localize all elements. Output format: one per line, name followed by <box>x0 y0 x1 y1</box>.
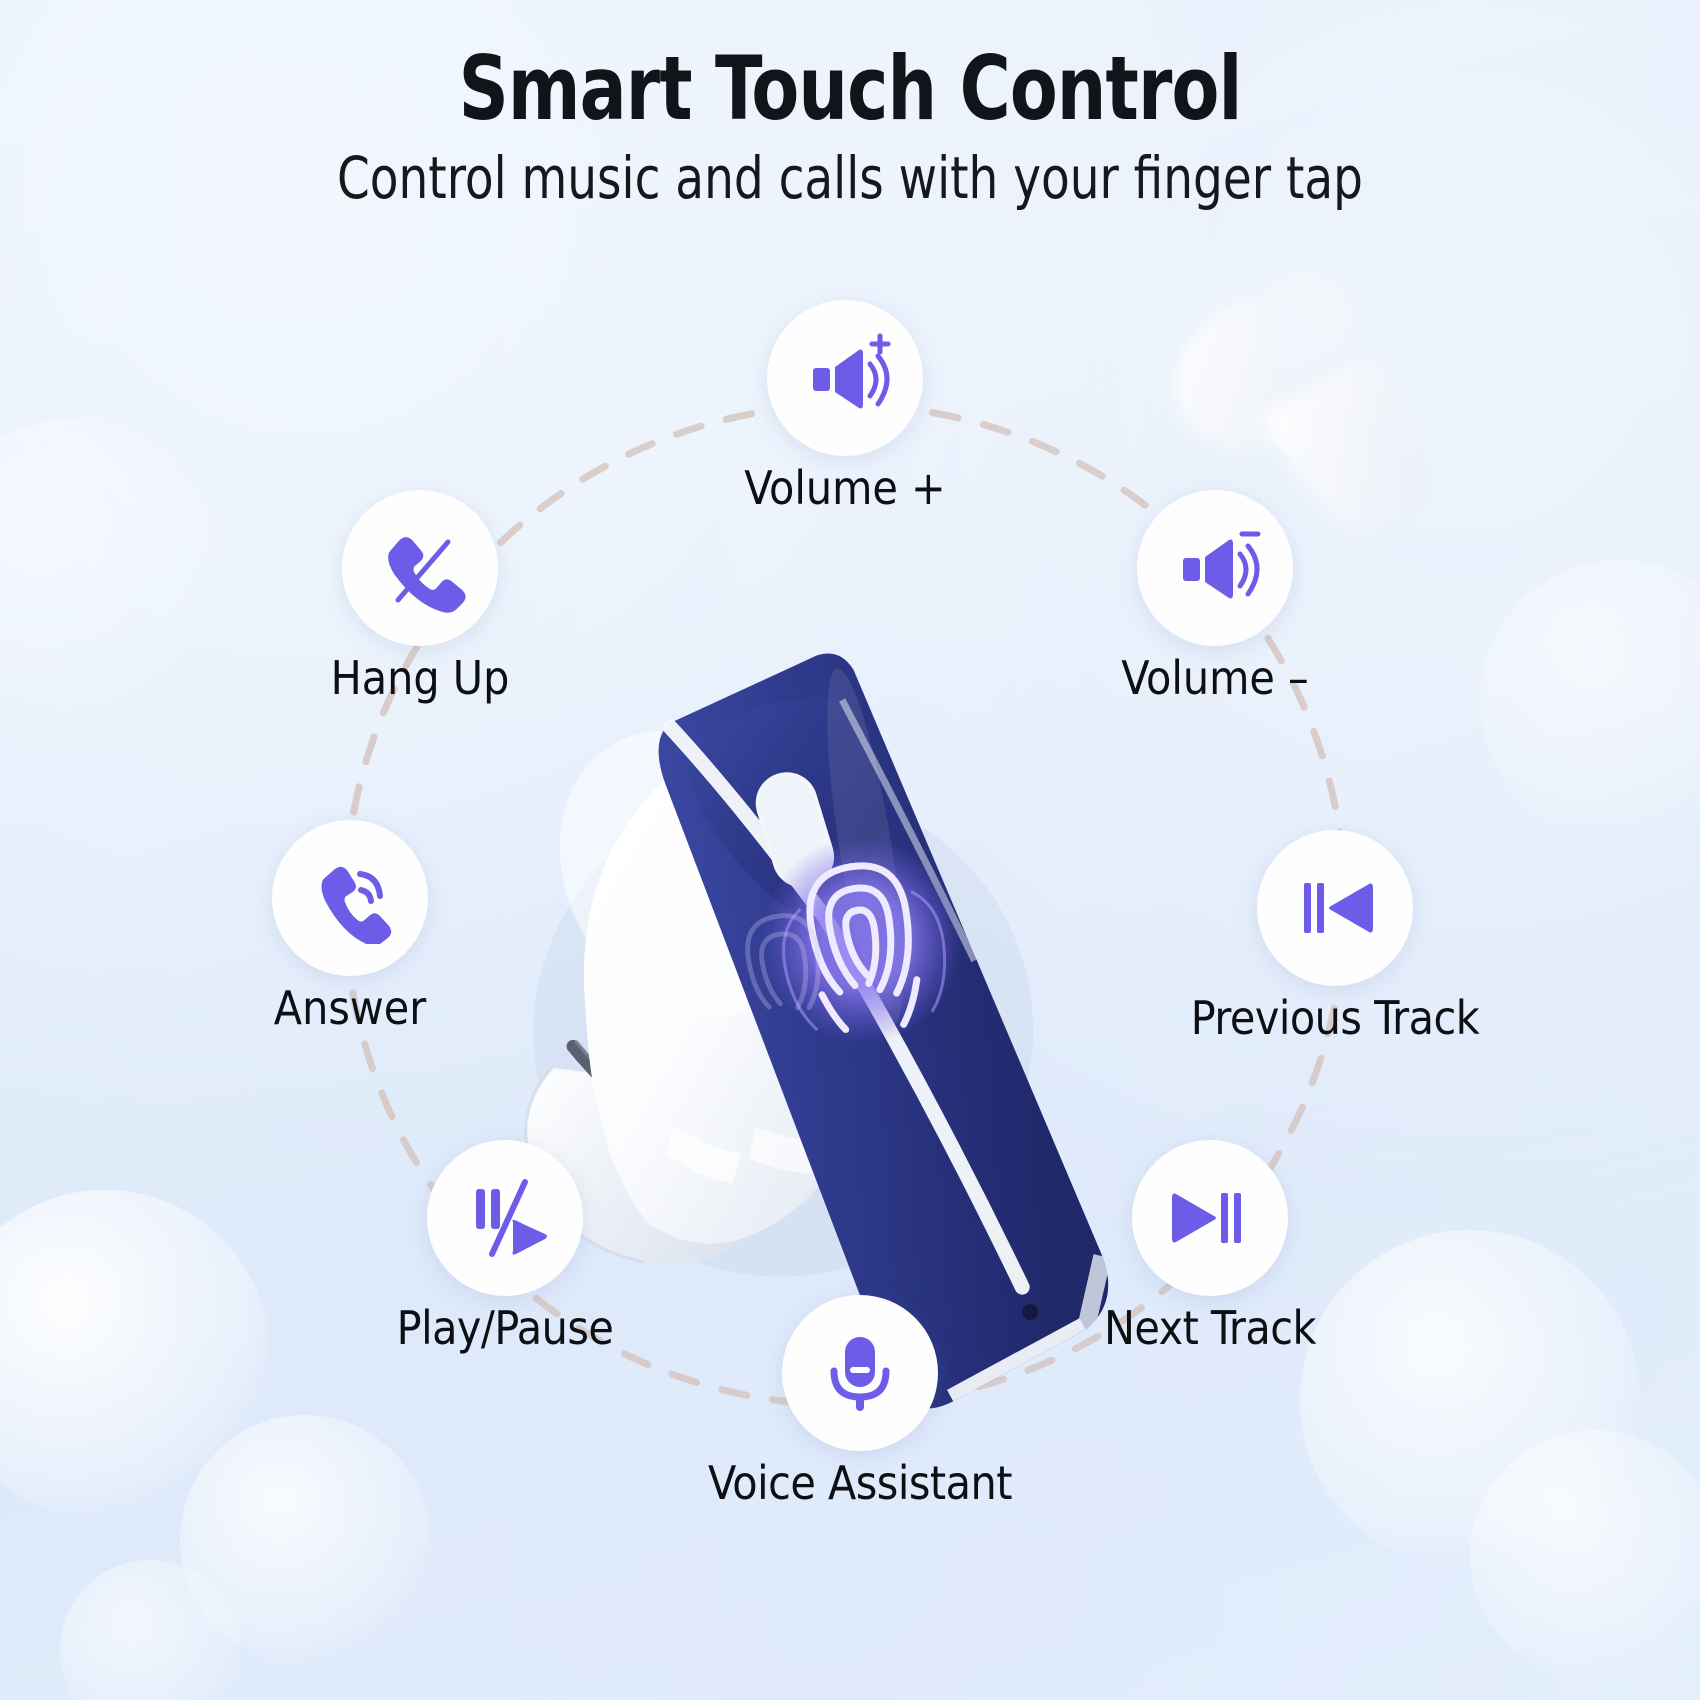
previous-track-badge[interactable] <box>1257 830 1413 986</box>
play-pause-badge[interactable] <box>427 1140 583 1296</box>
bokeh-circle <box>180 1415 430 1665</box>
page-title: Smart Touch Control <box>102 44 1598 134</box>
hang-up-badge[interactable] <box>342 490 498 646</box>
next-track-badge[interactable] <box>1132 1140 1288 1296</box>
feature-label: Volume + <box>730 464 960 514</box>
feature-label: Play/Pause <box>365 1304 645 1354</box>
feature-label: Previous Track <box>1190 994 1480 1044</box>
bokeh-circle <box>1480 560 1700 840</box>
bokeh-circle <box>0 420 220 720</box>
volume-up-badge[interactable] <box>767 300 923 456</box>
answer-badge[interactable] <box>272 820 428 976</box>
feature-label: Answer <box>235 984 465 1034</box>
infographic-canvas: Smart Touch Control Control music and ca… <box>0 0 1700 1700</box>
feature-volume-up[interactable]: Volume + <box>730 300 960 514</box>
phone-ring-icon <box>304 852 396 944</box>
phone-hangup-icon <box>374 522 466 614</box>
voice-assistant-badge[interactable] <box>782 1295 938 1451</box>
feature-voice-assistant[interactable]: Voice Assistant <box>700 1295 1020 1509</box>
microphone-icon <box>814 1327 906 1419</box>
volume-down-badge[interactable] <box>1137 490 1293 646</box>
feature-answer[interactable]: Answer <box>235 820 465 1034</box>
page-subtitle: Control music and calls with your finger… <box>85 148 1615 209</box>
feature-hang-up[interactable]: Hang Up <box>305 490 535 704</box>
bokeh-circle <box>1300 1230 1640 1570</box>
feature-label: Hang Up <box>305 654 535 704</box>
feature-label: Next Track <box>1075 1304 1345 1354</box>
previous-track-icon <box>1289 862 1381 954</box>
feature-play-pause[interactable]: Play/Pause <box>365 1140 645 1354</box>
feature-label: Voice Assistant <box>700 1459 1020 1509</box>
bokeh-circle <box>60 1560 240 1700</box>
speaker-plus-icon <box>799 332 891 424</box>
bokeh-circle <box>0 1190 270 1520</box>
feature-next-track[interactable]: Next Track <box>1075 1140 1345 1354</box>
bokeh-circle <box>1470 1430 1700 1680</box>
feature-volume-down[interactable]: Volume – <box>1100 490 1330 704</box>
feature-label: Volume – <box>1100 654 1330 704</box>
feature-previous-track[interactable]: Previous Track <box>1190 830 1480 1044</box>
play-pause-icon <box>459 1172 551 1264</box>
next-track-icon <box>1164 1172 1256 1264</box>
speaker-minus-icon <box>1169 522 1261 614</box>
